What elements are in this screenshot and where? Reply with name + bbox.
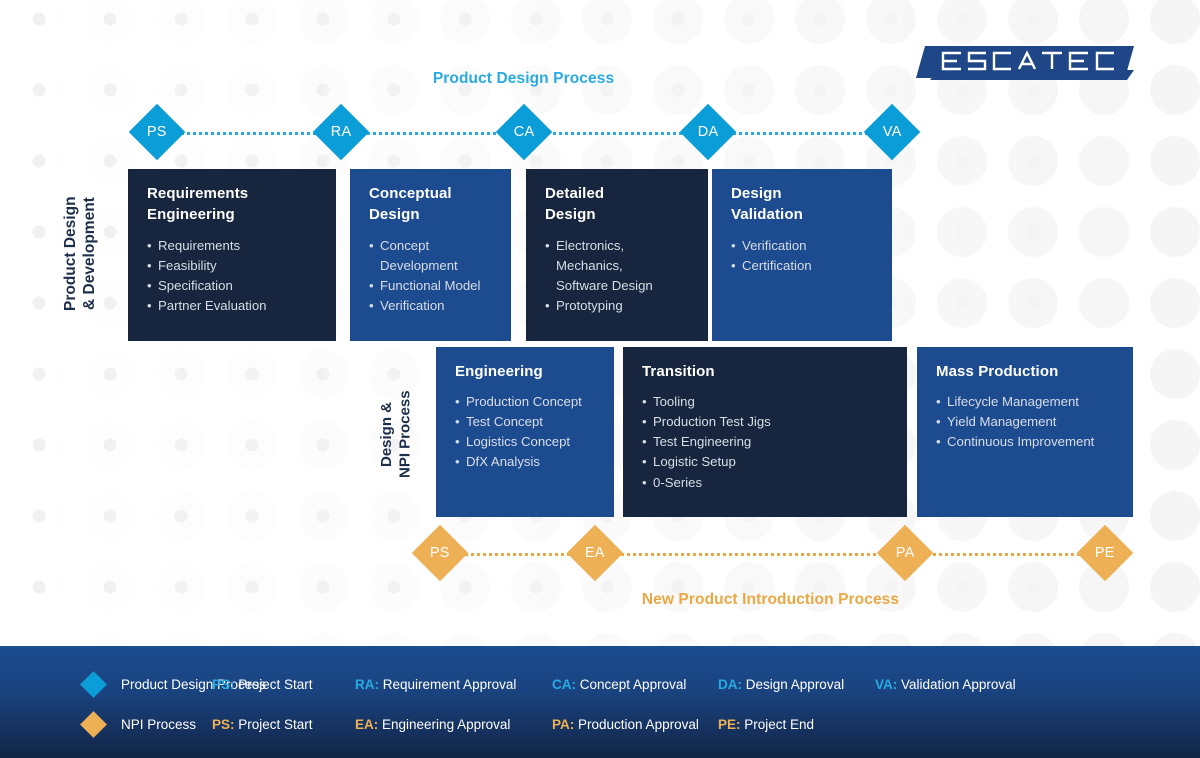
milestone-code: EA — [585, 546, 605, 561]
milestone-pe[interactable]: PE — [1077, 525, 1134, 582]
phase-item-list: Production Concept Test Concept Logistic… — [455, 392, 596, 472]
design-npi-process-label: Design & NPI Process — [378, 375, 415, 493]
milestone-code: VA — [883, 125, 902, 140]
phase-item-list: Lifecycle Management Yield Management Co… — [936, 392, 1115, 452]
legend-desc: Engineering Approval — [382, 717, 510, 732]
phase-item-list: Requirements Feasibility Specification P… — [147, 236, 318, 316]
phase-box-detailed-design[interactable]: Detailed Design Electronics, Mechanics, … — [526, 169, 708, 341]
phase-item: Electronics, Mechanics, Software Design — [545, 236, 690, 296]
milestone-da[interactable]: DA — [680, 104, 737, 161]
legend-code: VA: — [875, 677, 897, 692]
phase-item: Prototyping — [545, 296, 690, 316]
phase-item-list: Verification Certification — [731, 236, 874, 276]
phase-item: Verification — [731, 236, 874, 256]
diamond-blue-icon — [80, 671, 107, 698]
phase-title: Design Validation — [731, 183, 874, 226]
milestone-ea[interactable]: EA — [567, 525, 624, 582]
phase-item: Test Engineering — [642, 432, 889, 452]
phase-box-conceptual-design[interactable]: Conceptual Design Concept Development Fu… — [350, 169, 511, 341]
phase-item: Logistics Concept — [455, 432, 596, 452]
milestone-code: DA — [698, 125, 719, 140]
phase-title: Engineering — [455, 361, 596, 382]
phase-box-engineering[interactable]: Engineering Production Concept Test Conc… — [436, 347, 614, 517]
phase-item: Partner Evaluation — [147, 296, 318, 316]
phase-item: Verification — [369, 296, 493, 316]
milestone-code: PS — [147, 125, 167, 140]
milestone-code: PA — [896, 546, 915, 561]
legend-item-ps: PS: Project Start — [212, 677, 355, 692]
bottom-milestone-rail — [440, 553, 1105, 556]
phase-item: Requirements — [147, 236, 318, 256]
legend-row-npi: NPI Process PS: Project Start EA: Engine… — [0, 710, 814, 738]
phase-item: Certification — [731, 256, 874, 276]
phase-item: DfX Analysis — [455, 452, 596, 472]
legend-desc: Design Approval — [746, 677, 844, 692]
legend-desc: Production Approval — [578, 717, 699, 732]
milestone-code: CA — [514, 125, 535, 140]
legend-desc: Requirement Approval — [383, 677, 517, 692]
legend-desc: Validation Approval — [901, 677, 1016, 692]
milestone-ca[interactable]: CA — [496, 104, 553, 161]
top-process-title: Product Design Process — [0, 70, 1047, 88]
legend-footer: Product Design Process PS: Project Start… — [0, 646, 1200, 758]
phase-item: Feasibility — [147, 256, 318, 276]
phase-item: Production Test Jigs — [642, 412, 889, 432]
phase-title: Mass Production — [936, 361, 1115, 382]
legend-code: PS: — [212, 677, 235, 692]
milestone-code: RA — [331, 125, 352, 140]
legend-item-ea: EA: Engineering Approval — [355, 717, 552, 732]
legend-item-pe: PE: Project End — [718, 717, 814, 732]
legend-code: CA: — [552, 677, 576, 692]
legend-key-npi: NPI Process — [0, 715, 212, 734]
phase-item-list: Concept Development Functional Model Ver… — [369, 236, 493, 316]
phase-item-list: Electronics, Mechanics, Software Design … — [545, 236, 690, 316]
phase-item: Functional Model — [369, 276, 493, 296]
legend-row-product-design: Product Design Process PS: Project Start… — [0, 670, 1016, 698]
phase-item: Tooling — [642, 392, 889, 412]
legend-code: PE: — [718, 717, 741, 732]
milestone-pa[interactable]: PA — [877, 525, 934, 582]
phase-title: Detailed Design — [545, 183, 690, 226]
milestone-ps-top[interactable]: PS — [129, 104, 186, 161]
legend-code: EA: — [355, 717, 378, 732]
legend-item-da: DA: Design Approval — [718, 677, 875, 692]
phase-item: 0-Series — [642, 473, 889, 493]
milestone-va[interactable]: VA — [864, 104, 921, 161]
phase-item-list: Tooling Production Test Jigs Test Engine… — [642, 392, 889, 492]
phase-item: Logistic Setup — [642, 452, 889, 472]
milestone-ra[interactable]: RA — [313, 104, 370, 161]
phase-item: Continuous Improvement — [936, 432, 1115, 452]
legend-item-ra: RA: Requirement Approval — [355, 677, 552, 692]
legend-desc: Project Start — [238, 717, 312, 732]
legend-desc: Project Start — [238, 677, 312, 692]
legend-key-product-design: Product Design Process — [0, 675, 212, 694]
legend-code: DA: — [718, 677, 742, 692]
phase-title: Transition — [642, 361, 889, 382]
product-design-development-label: Product Design & Development — [62, 169, 100, 339]
legend-desc: Project End — [744, 717, 814, 732]
milestone-code: PS — [430, 546, 450, 561]
legend-item-va: VA: Validation Approval — [875, 677, 1016, 692]
milestone-ps-bottom[interactable]: PS — [412, 525, 469, 582]
legend-code: PA: — [552, 717, 574, 732]
legend-item-pa: PA: Production Approval — [552, 717, 718, 732]
phase-item: Specification — [147, 276, 318, 296]
phase-item: Production Concept — [455, 392, 596, 412]
phase-item: Test Concept — [455, 412, 596, 432]
bottom-process-title: New Product Introduction Process — [340, 591, 1200, 609]
phase-box-requirements-engineering[interactable]: Requirements Engineering Requirements Fe… — [128, 169, 336, 341]
legend-code: PS: — [212, 717, 235, 732]
legend-item-ca: CA: Concept Approval — [552, 677, 718, 692]
phase-item: Lifecycle Management — [936, 392, 1115, 412]
phase-box-mass-production[interactable]: Mass Production Lifecycle Management Yie… — [917, 347, 1133, 517]
legend-code: RA: — [355, 677, 379, 692]
phase-title: Conceptual Design — [369, 183, 493, 226]
legend-item-ps: PS: Project Start — [212, 717, 355, 732]
milestone-code: PE — [1095, 546, 1115, 561]
legend-key-label: NPI Process — [121, 717, 196, 732]
phase-item: Concept Development — [369, 236, 493, 276]
phase-item: Yield Management — [936, 412, 1115, 432]
phase-title: Requirements Engineering — [147, 183, 318, 226]
phase-box-design-validation[interactable]: Design Validation Verification Certifica… — [712, 169, 892, 341]
legend-desc: Concept Approval — [580, 677, 687, 692]
diamond-amber-icon — [80, 711, 107, 738]
phase-box-transition[interactable]: Transition Tooling Production Test Jigs … — [623, 347, 907, 517]
